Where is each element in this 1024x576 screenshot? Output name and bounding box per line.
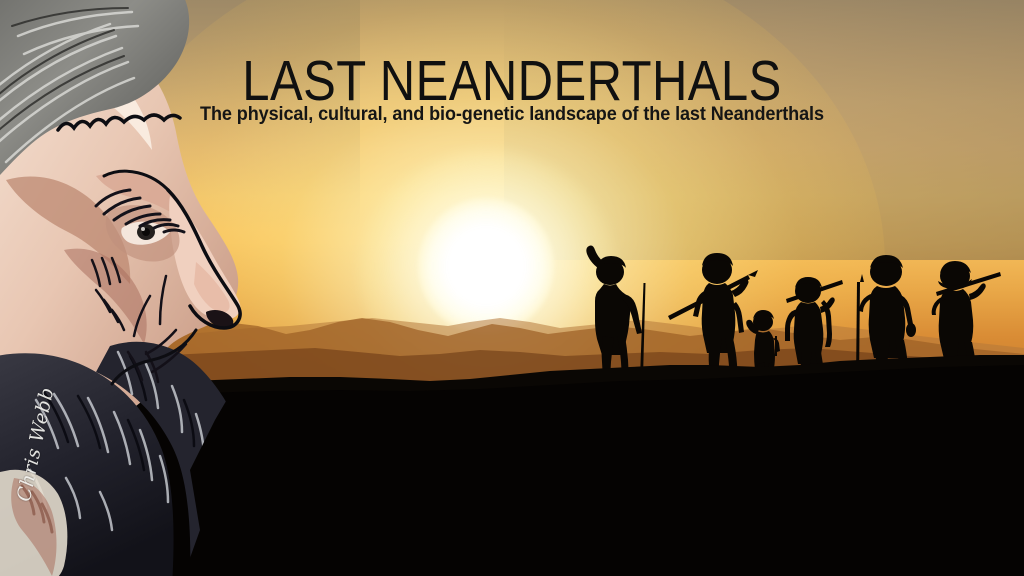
slide-canvas: Chris Webb LAST NEANDERTHALS The physica… [0,0,1024,576]
page-subtitle: The physical, cultural, and bio-genetic … [26,104,999,126]
